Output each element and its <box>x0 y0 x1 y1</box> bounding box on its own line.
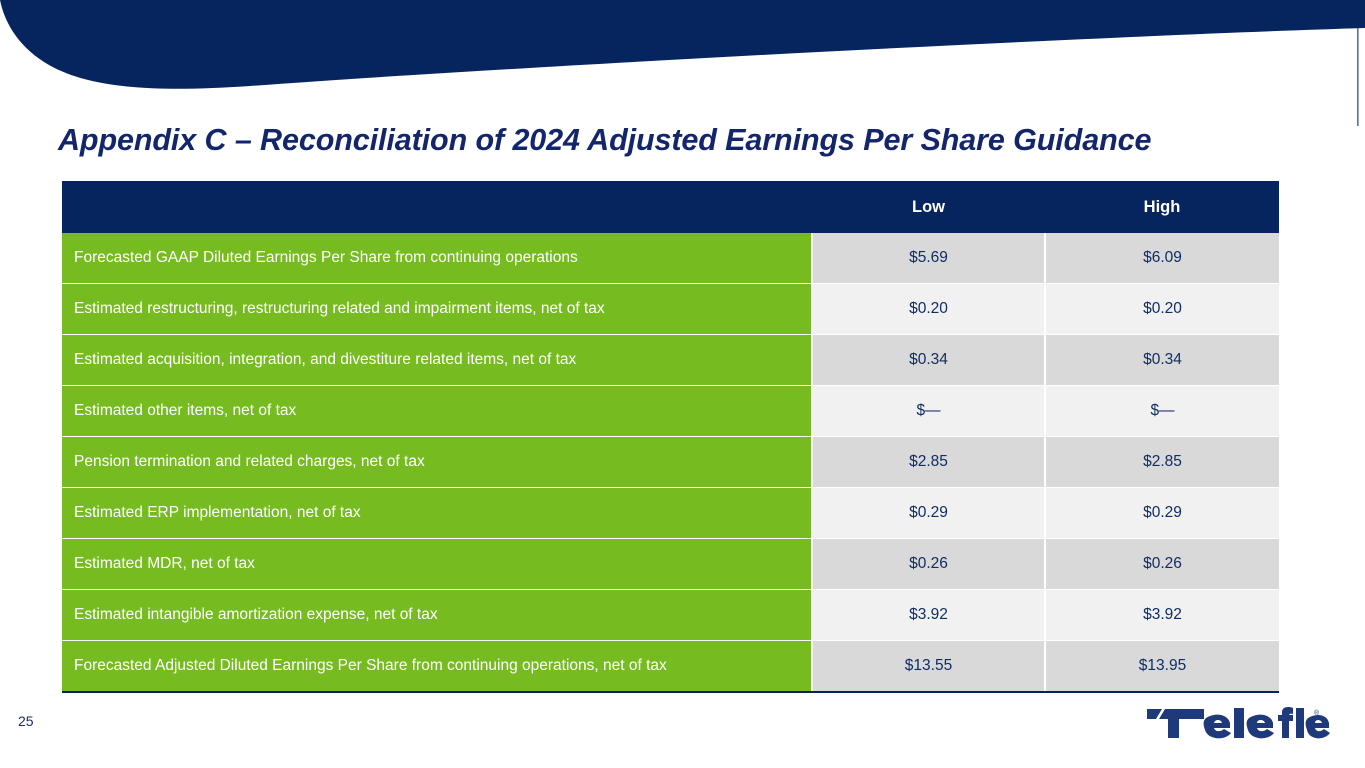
row-label: Estimated ERP implementation, net of tax <box>62 488 812 539</box>
table-row: Estimated intangible amortization expens… <box>62 590 1279 641</box>
page-title: Appendix C – Reconciliation of 2024 Adju… <box>58 123 1338 158</box>
row-value-low: $0.34 <box>812 335 1045 386</box>
table-row: Pension termination and related charges,… <box>62 437 1279 488</box>
teleflex-logo-icon: x ® <box>1146 707 1332 741</box>
table-row: Estimated acquisition, integration, and … <box>62 335 1279 386</box>
column-header-high: High <box>1045 181 1279 233</box>
table-row: Estimated other items, net of tax $— $— <box>62 386 1279 437</box>
table-row: Estimated restructuring, restructuring r… <box>62 284 1279 335</box>
table-body: Forecasted GAAP Diluted Earnings Per Sha… <box>62 233 1279 691</box>
row-label: Estimated MDR, net of tax <box>62 539 812 590</box>
row-value-low: $0.29 <box>812 488 1045 539</box>
row-value-low: $5.69 <box>812 233 1045 284</box>
row-label: Forecasted Adjusted Diluted Earnings Per… <box>62 641 812 692</box>
row-label: Estimated acquisition, integration, and … <box>62 335 812 386</box>
page-number: 25 <box>18 713 34 729</box>
row-value-high: $0.26 <box>1045 539 1279 590</box>
row-value-high: $3.92 <box>1045 590 1279 641</box>
row-value-low: $0.26 <box>812 539 1045 590</box>
table-row: Estimated ERP implementation, net of tax… <box>62 488 1279 539</box>
table-row: Forecasted GAAP Diluted Earnings Per Sha… <box>62 233 1279 284</box>
column-header-label <box>62 181 812 233</box>
column-header-low: Low <box>812 181 1045 233</box>
registered-trademark-symbol: ® <box>1314 709 1320 717</box>
table-header-row: Low High <box>62 181 1279 233</box>
row-value-low: $3.92 <box>812 590 1045 641</box>
row-label: Pension termination and related charges,… <box>62 437 812 488</box>
row-value-low: $2.85 <box>812 437 1045 488</box>
row-label: Estimated intangible amortization expens… <box>62 590 812 641</box>
row-value-low: $13.55 <box>812 641 1045 692</box>
row-value-high: $0.29 <box>1045 488 1279 539</box>
row-value-low: $0.20 <box>812 284 1045 335</box>
reconciliation-table: Low High Forecasted GAAP Diluted Earning… <box>62 181 1279 691</box>
teleflex-logo: x ® <box>1146 707 1332 741</box>
row-value-high: $6.09 <box>1045 233 1279 284</box>
table-row: Estimated MDR, net of tax $0.26 $0.26 <box>62 539 1279 590</box>
row-label: Forecasted GAAP Diluted Earnings Per Sha… <box>62 233 812 284</box>
table-row: Forecasted Adjusted Diluted Earnings Per… <box>62 641 1279 692</box>
row-label: Estimated restructuring, restructuring r… <box>62 284 812 335</box>
row-label: Estimated other items, net of tax <box>62 386 812 437</box>
header-banner <box>0 0 1365 130</box>
row-value-low: $— <box>812 386 1045 437</box>
row-value-high: $13.95 <box>1045 641 1279 692</box>
row-value-high: $2.85 <box>1045 437 1279 488</box>
table-header: Low High <box>62 181 1279 233</box>
row-value-high: $0.34 <box>1045 335 1279 386</box>
reconciliation-table-container: Low High Forecasted GAAP Diluted Earning… <box>62 181 1279 693</box>
row-value-high: $— <box>1045 386 1279 437</box>
row-value-high: $0.20 <box>1045 284 1279 335</box>
